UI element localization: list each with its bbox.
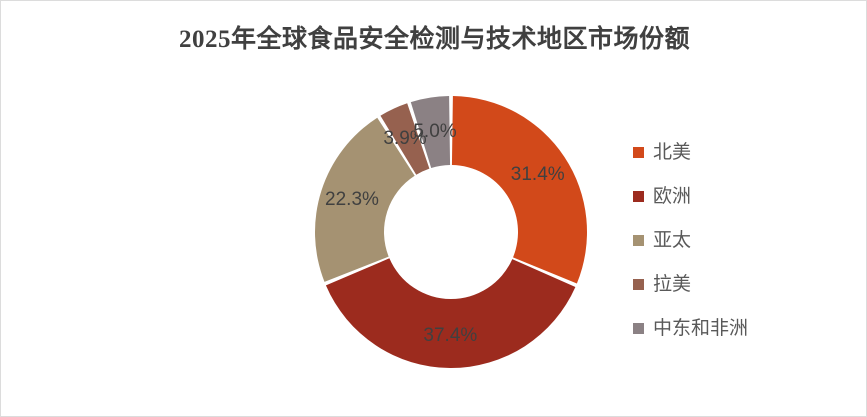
chart-container: 2025年全球食品安全检测与技术地区市场份额 31.4%37.4%22.3%3.…: [0, 0, 867, 417]
legend-item-label: 拉美: [653, 275, 691, 294]
legend-item[interactable]: 中东和非洲: [633, 306, 853, 350]
slice-value-label: 22.3%: [325, 189, 379, 211]
slice-value-label: 5.0%: [413, 121, 456, 143]
slice-value-label: 31.4%: [511, 164, 565, 186]
chart-legend: 北美欧洲亚太拉美中东和非洲: [633, 130, 853, 350]
legend-item-label: 北美: [653, 143, 691, 162]
legend-swatch-icon: [633, 147, 644, 158]
legend-swatch-icon: [633, 323, 644, 334]
legend-swatch-icon: [633, 235, 644, 246]
donut-slice[interactable]: [452, 96, 587, 283]
donut-chart-svg: [1, 1, 641, 417]
legend-item-label: 亚太: [653, 231, 691, 250]
legend-item[interactable]: 亚太: [633, 218, 853, 262]
legend-item[interactable]: 欧洲: [633, 174, 853, 218]
legend-item[interactable]: 拉美: [633, 262, 853, 306]
donut-plot-area: 31.4%37.4%22.3%3.9%5.0%: [1, 1, 641, 417]
legend-item-label: 欧洲: [653, 187, 691, 206]
legend-item[interactable]: 北美: [633, 130, 853, 174]
donut-slice[interactable]: [326, 258, 575, 368]
legend-item-label: 中东和非洲: [653, 319, 748, 338]
legend-swatch-icon: [633, 191, 644, 202]
legend-swatch-icon: [633, 279, 644, 290]
slice-value-label: 37.4%: [423, 325, 477, 347]
